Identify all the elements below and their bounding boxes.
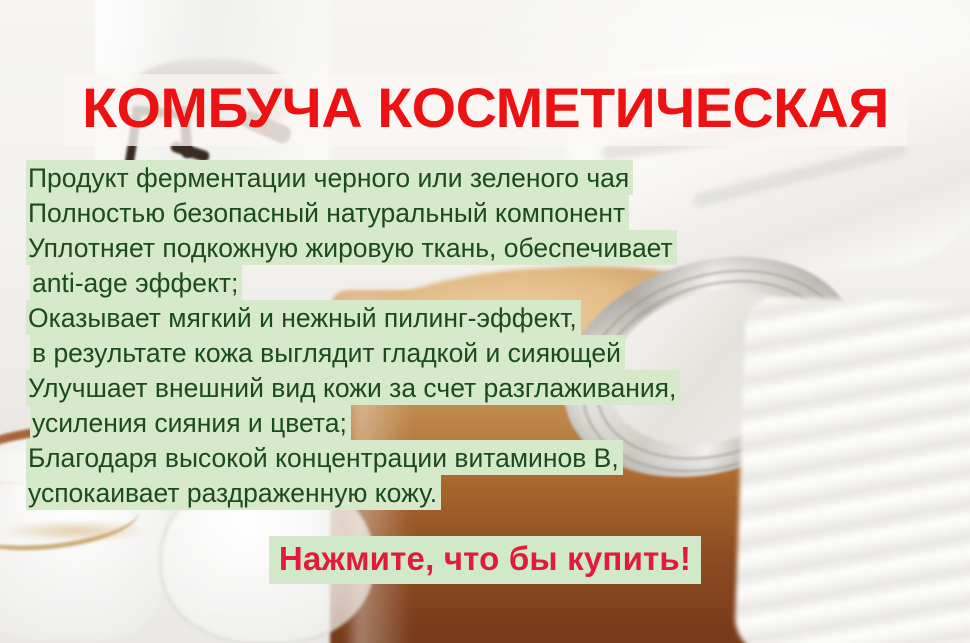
- benefit-line: в результате кожа выглядит гладкой и сия…: [26, 335, 926, 370]
- benefit-line-text: Оказывает мягкий и нежный пилинг-эффект,: [26, 300, 581, 335]
- buy-now-button[interactable]: Нажмите, что бы купить!: [269, 536, 701, 584]
- benefit-line: Уплотняет подкожную жировую ткань, обесп…: [26, 230, 926, 265]
- benefit-line-text: Полностью безопасный натуральный компоне…: [26, 195, 629, 230]
- benefit-line-text: усиления сияния и цвета;: [30, 405, 351, 440]
- benefit-line: успокаивает раздраженную кожу.: [26, 475, 926, 510]
- benefit-line-text: Благодаря высокой концентрации витаминов…: [26, 440, 623, 475]
- benefit-line: Улучшает внешний вид кожи за счет разгла…: [26, 370, 926, 405]
- cta-container: Нажмите, что бы купить!: [0, 536, 970, 584]
- benefit-line: Продукт ферментации черного или зеленого…: [26, 160, 926, 195]
- benefit-line-text: Улучшает внешний вид кожи за счет разгла…: [26, 370, 680, 405]
- benefit-line: anti-age эффект;: [26, 265, 926, 300]
- benefit-line-text: Уплотняет подкожную жировую ткань, обесп…: [26, 230, 677, 265]
- benefit-line-text: в результате кожа выглядит гладкой и сия…: [30, 335, 625, 370]
- benefit-line-text: anti-age эффект;: [30, 265, 242, 300]
- benefit-line: Благодаря высокой концентрации витаминов…: [26, 440, 926, 475]
- promo-banner: КОМБУЧА КОСМЕТИЧЕСКАЯ Продукт ферментаци…: [0, 0, 970, 643]
- benefit-line-text: успокаивает раздраженную кожу.: [26, 475, 441, 510]
- benefit-line: Оказывает мягкий и нежный пилинг-эффект,: [26, 300, 926, 335]
- page-title: КОМБУЧА КОСМЕТИЧЕСКАЯ: [63, 74, 906, 146]
- benefit-line: усиления сияния и цвета;: [26, 405, 926, 440]
- benefit-line: Полностью безопасный натуральный компоне…: [26, 195, 926, 230]
- benefits-list: Продукт ферментации черного или зеленого…: [26, 160, 926, 510]
- benefit-line-text: Продукт ферментации черного или зеленого…: [26, 160, 633, 195]
- text-layer: КОМБУЧА КОСМЕТИЧЕСКАЯ Продукт ферментаци…: [0, 0, 970, 643]
